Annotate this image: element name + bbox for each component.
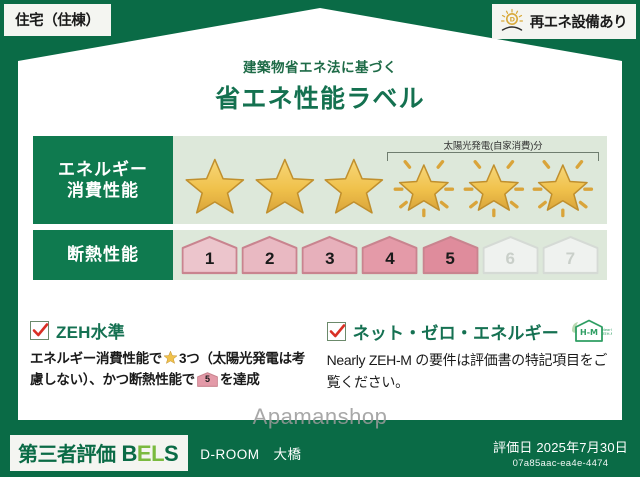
bels-letter-el: EL (137, 441, 164, 466)
bels-japanese-label: 第三者評価 (18, 438, 116, 467)
unit-name: 大橋 (273, 447, 301, 462)
energy-performance-stars-cell: 太陽光発電(自家消費)分 (173, 136, 607, 224)
grade-label-3: 3 (301, 235, 358, 275)
zeh-standard-title: ZEH水準 (56, 318, 125, 343)
insulation-grade-group: 1 2 3 4 5 (173, 230, 607, 280)
building-type-label: 住宅（住棟） (15, 13, 100, 29)
svg-text:D: D (509, 16, 515, 24)
label-heading: 建築物省エネ法に基づく 省エネ性能ラベル (0, 56, 640, 115)
zeh-m-house-logo: H-M Nearly ZEH-M (568, 318, 612, 344)
star-filled (251, 154, 319, 220)
inline-star-icon (163, 350, 178, 365)
grade-badge-4: 4 (361, 235, 418, 275)
zeh-desc-part2: 3つ（太陽光発電 (179, 351, 279, 366)
grade-badge-5: 5 (422, 235, 479, 275)
renewable-equipment-tag: D 再エネ設備あり (492, 4, 636, 39)
net-zero-energy-header: ネット・ゼロ・エネルギー H-M Nearly ZEH-M (327, 318, 612, 344)
energy-label-line2: 消費性能 (67, 180, 139, 201)
evaluation-info: 評価日 2025年7月30日 07a85aac-ea4e-4474 (493, 437, 628, 469)
net-zero-energy-title: ネット・ゼロ・エネルギー (353, 319, 559, 344)
insulation-label-cell: 断熱性能 (33, 230, 173, 280)
grade-label-5: 5 (422, 235, 479, 275)
grade-badge-7: 7 (542, 235, 599, 275)
heading-subtitle: 建築物省エネ法に基づく (0, 56, 640, 76)
star-solar (460, 154, 528, 220)
net-zero-energy-description: Nearly ZEH-M の要件は評価書の特記項目をご覧ください。 (327, 350, 612, 393)
building-name: D-ROOM (200, 447, 259, 462)
zeh-standard-block: ZEH水準 エネルギー消費性能で3つ（太陽光発電は考慮しない）、かつ断熱性能で5… (30, 318, 313, 393)
star-filled (181, 154, 249, 220)
grade-badge-6: 6 (482, 235, 539, 275)
grade-label-6: 6 (482, 235, 539, 275)
grade-label-4: 4 (361, 235, 418, 275)
energy-label-line1: エネルギー (58, 159, 148, 180)
net-zero-energy-block: ネット・ゼロ・エネルギー H-M Nearly ZEH-M Nearly ZEH… (327, 318, 612, 393)
star-solar (529, 154, 597, 220)
grade-label-2: 2 (241, 235, 298, 275)
building-identification: D-ROOM大橋 (200, 443, 301, 463)
zeh-standard-header: ZEH水準 (30, 318, 313, 343)
metrics-table: エネルギー 消費性能 太陽光発電(自家消費)分 (33, 136, 607, 286)
watermark: Apamanshop (0, 404, 640, 430)
bels-logo-text: BELS (122, 441, 179, 467)
zeh-desc-part4: を達成 (220, 372, 260, 387)
inline-grade-value: 5 (197, 372, 218, 387)
bels-letter-s: S (164, 441, 178, 466)
zeh-summary-section: ZEH水準 エネルギー消費性能で3つ（太陽光発電は考慮しない）、かつ断熱性能で5… (30, 318, 612, 393)
heading-title: 省エネ性能ラベル (0, 79, 640, 115)
grade-label-1: 1 (181, 235, 238, 275)
bels-letter-b: B (122, 441, 137, 466)
checkbox-checked-icon (327, 322, 346, 341)
footer-bar: 第三者評価 BELS D-ROOM大橋 評価日 2025年7月30日 07a85… (0, 429, 640, 477)
sun-renewable-icon: D (499, 8, 525, 34)
svg-text:H-M: H-M (580, 328, 598, 337)
evaluation-date: 評価日 2025年7月30日 (493, 437, 628, 456)
checkbox-checked-icon (30, 321, 49, 340)
star-solar (390, 154, 458, 220)
grade-badge-1: 1 (181, 235, 238, 275)
zeh-standard-description: エネルギー消費性能で3つ（太陽光発電は考慮しない）、かつ断熱性能で5を達成 (30, 349, 313, 391)
insulation-performance-row: 断熱性能 1 2 3 (33, 230, 607, 280)
zeh-desc-part1: エネルギー消費性能で (30, 351, 162, 366)
grade-badge-3: 3 (301, 235, 358, 275)
inline-grade-badge: 5 (197, 372, 218, 387)
insulation-label-line1: 断熱性能 (67, 244, 139, 265)
star-rating-group (173, 150, 607, 224)
renewable-label: 再エネ設備あり (530, 11, 627, 32)
star-filled (320, 154, 388, 220)
svg-text:ZEH-M: ZEH-M (602, 332, 612, 336)
evaluation-id: 07a85aac-ea4e-4474 (493, 458, 628, 469)
grade-label-7: 7 (542, 235, 599, 275)
grade-badge-2: 2 (241, 235, 298, 275)
energy-performance-label-cell: エネルギー 消費性能 (33, 136, 173, 224)
insulation-grades-cell: 1 2 3 4 5 (173, 230, 607, 280)
bels-badge: 第三者評価 BELS (10, 435, 188, 471)
energy-performance-label: 住宅（住棟） D 再エネ設備あり 建築物省エネ法に基づ (0, 0, 640, 477)
energy-performance-row: エネルギー 消費性能 太陽光発電(自家消費)分 (33, 136, 607, 224)
building-type-tag: 住宅（住棟） (4, 4, 111, 36)
